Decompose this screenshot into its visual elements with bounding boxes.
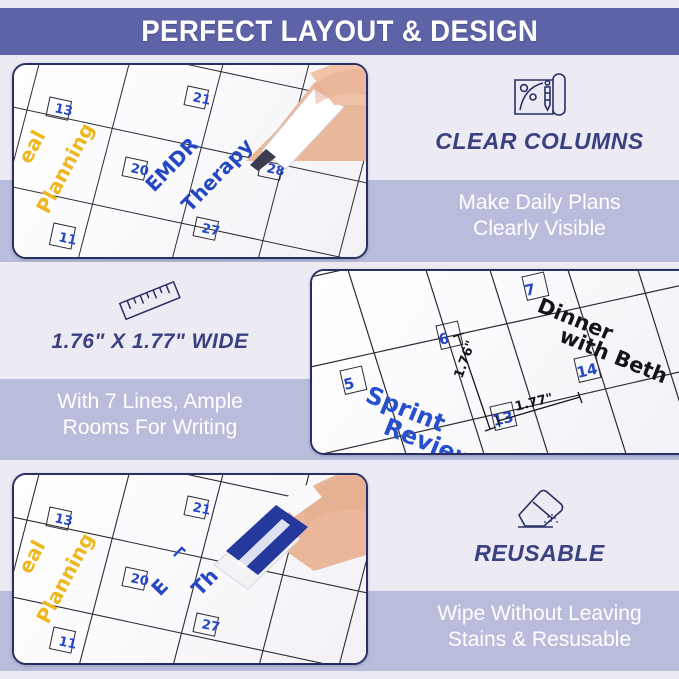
day-number: 5 xyxy=(342,374,356,394)
calendar-grid: 13 21 20 28 27 11 eal Planning EMDR Ther… xyxy=(14,65,366,257)
feature-cell-size: 1.76" X 1.77" WIDE xyxy=(0,278,300,354)
caption-line-2: Stains & Resusable xyxy=(400,627,679,653)
feature-title: 1.76" X 1.77" WIDE xyxy=(0,330,300,354)
day-number: 27 xyxy=(200,617,221,635)
handwriting-remnant-e: E xyxy=(146,574,173,601)
handwriting-meal: eal xyxy=(14,536,50,577)
handwriting-remnant-mark: ¬ xyxy=(164,538,193,567)
header-banner: PERFECT LAYOUT & DESIGN xyxy=(0,8,679,55)
caption-line-1: Make Daily Plans xyxy=(400,190,679,216)
day-number: 20 xyxy=(129,571,150,589)
caption-line-2: Clearly Visible xyxy=(400,216,679,242)
calendar-grid: 13 21 20 27 11 eal Planning E Th ¬ xyxy=(14,475,366,663)
writing-photo: 13 21 20 28 27 11 eal Planning EMDR Ther… xyxy=(12,63,368,259)
day-number: 11 xyxy=(57,634,78,652)
day-number: 11 xyxy=(57,230,78,248)
feature-caption-1: Make Daily Plans Clearly Visible xyxy=(400,190,679,241)
day-number: 27 xyxy=(200,221,221,239)
feature-caption-3: Wipe Without Leaving Stains & Resusable xyxy=(400,601,679,652)
caption-line-2: Rooms For Writing xyxy=(0,415,300,441)
day-number: 7 xyxy=(523,280,537,300)
ruler-icon xyxy=(115,278,185,324)
erasing-photo: 13 21 20 27 11 eal Planning E Th ¬ xyxy=(12,473,368,665)
day-number: 21 xyxy=(191,500,212,518)
caption-line-1: With 7 Lines, Ample xyxy=(0,389,300,415)
eraser-icon xyxy=(509,484,571,532)
page-title: PERFECT LAYOUT & DESIGN xyxy=(141,15,538,49)
feature-title: REUSABLE xyxy=(400,540,679,567)
day-number: 21 xyxy=(191,90,212,108)
feature-caption-2: With 7 Lines, Ample Rooms For Writing xyxy=(0,389,300,440)
measure-photo: 5 6 7 13 14 Sprint Review Dinner with Be… xyxy=(310,269,679,455)
day-number: 13 xyxy=(53,101,74,119)
dimension-height-label: 1.76" xyxy=(452,339,479,381)
feature-clear-columns: CLEAR COLUMNS xyxy=(400,72,679,155)
day-number: 6 xyxy=(437,329,451,349)
handwriting-with-beth: with Beth xyxy=(556,323,671,388)
feature-reusable: REUSABLE xyxy=(400,484,679,567)
calendar-grid: 5 6 7 13 14 Sprint Review Dinner with Be… xyxy=(312,271,679,453)
hand-holding-eraser xyxy=(214,475,366,589)
feature-title: CLEAR COLUMNS xyxy=(400,128,679,155)
blueprint-pencil-icon xyxy=(509,72,571,120)
infographic-page: PERFECT LAYOUT & DESIGN xyxy=(0,0,679,679)
handwriting-meal: eal xyxy=(14,126,50,167)
caption-line-1: Wipe Without Leaving xyxy=(400,601,679,627)
